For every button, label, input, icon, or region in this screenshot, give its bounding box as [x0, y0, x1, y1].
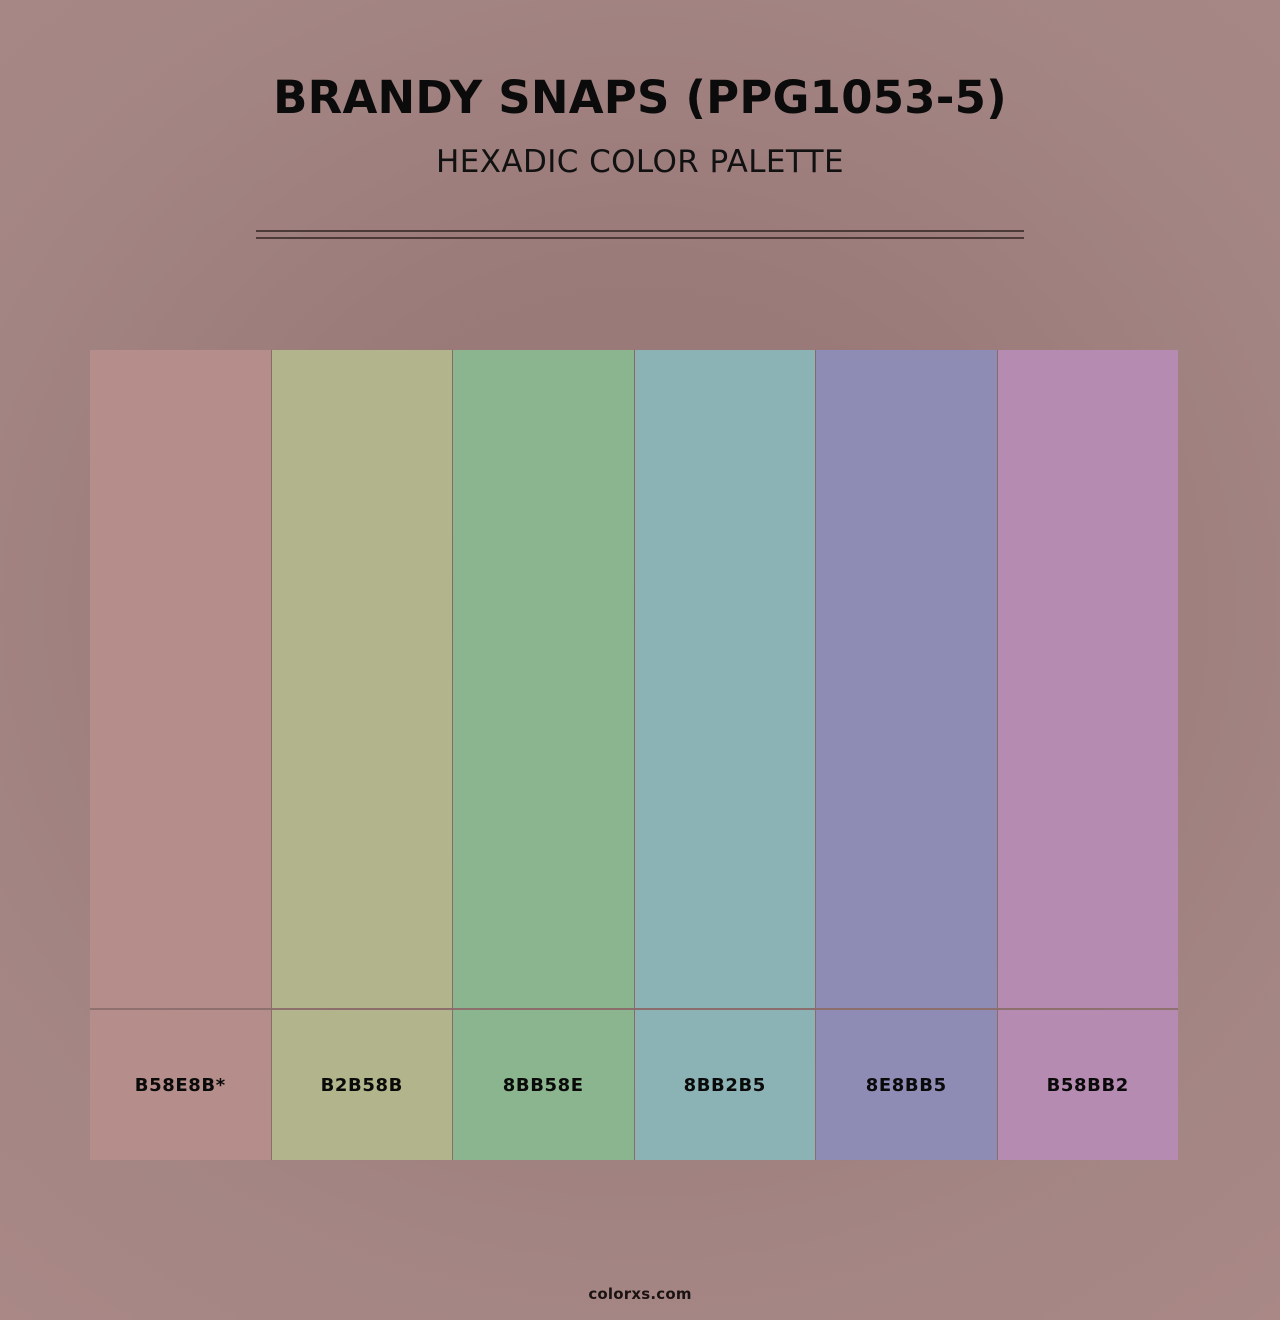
swatch-color-block[interactable] [90, 350, 271, 1008]
swatch-hex-label: B58E8B* [135, 1075, 226, 1096]
swatch-label-band[interactable]: 8BB58E [453, 1010, 634, 1160]
swatch-color-block[interactable] [453, 350, 634, 1008]
divider-line-bottom [256, 237, 1024, 239]
site-credit: colorxs.com [588, 1285, 691, 1303]
swatch-column[interactable]: 8BB2B5 [635, 350, 817, 1160]
swatch-label-band[interactable]: B58E8B* [90, 1010, 271, 1160]
swatch-color-block[interactable] [635, 350, 816, 1008]
palette-swatch-grid: B58E8B* B2B58B 8BB58E 8BB2B5 [90, 350, 1178, 1160]
divider-line-top [256, 230, 1024, 232]
page-footer: colorxs.com [0, 1284, 1280, 1303]
swatch-hex-label: B58BB2 [1047, 1075, 1129, 1096]
swatch-column[interactable]: B58E8B* [90, 350, 272, 1160]
swatch-color-block[interactable] [816, 350, 997, 1008]
swatch-hex-label: 8BB58E [503, 1075, 584, 1096]
swatch-column[interactable]: 8E8BB5 [816, 350, 998, 1160]
swatch-label-band[interactable]: 8BB2B5 [635, 1010, 816, 1160]
swatch-color-block[interactable] [998, 350, 1179, 1008]
swatch-label-band[interactable]: B58BB2 [998, 1010, 1179, 1160]
swatch-label-band[interactable]: 8E8BB5 [816, 1010, 997, 1160]
page-title: BRANDY SNAPS (PPG1053-5) [0, 0, 1280, 122]
page-header: BRANDY SNAPS (PPG1053-5) HEXADIC COLOR P… [0, 0, 1280, 178]
header-divider [256, 230, 1024, 239]
color-palette-page: BRANDY SNAPS (PPG1053-5) HEXADIC COLOR P… [0, 0, 1280, 1320]
swatch-column[interactable]: 8BB58E [453, 350, 635, 1160]
swatch-hex-label: 8E8BB5 [866, 1075, 947, 1096]
swatch-color-block[interactable] [272, 350, 453, 1008]
page-subtitle: HEXADIC COLOR PALETTE [0, 122, 1280, 179]
swatch-label-band[interactable]: B2B58B [272, 1010, 453, 1160]
swatch-hex-label: B2B58B [321, 1075, 403, 1096]
swatch-hex-label: 8BB2B5 [684, 1075, 766, 1096]
swatch-column[interactable]: B2B58B [272, 350, 454, 1160]
swatch-column[interactable]: B58BB2 [998, 350, 1179, 1160]
